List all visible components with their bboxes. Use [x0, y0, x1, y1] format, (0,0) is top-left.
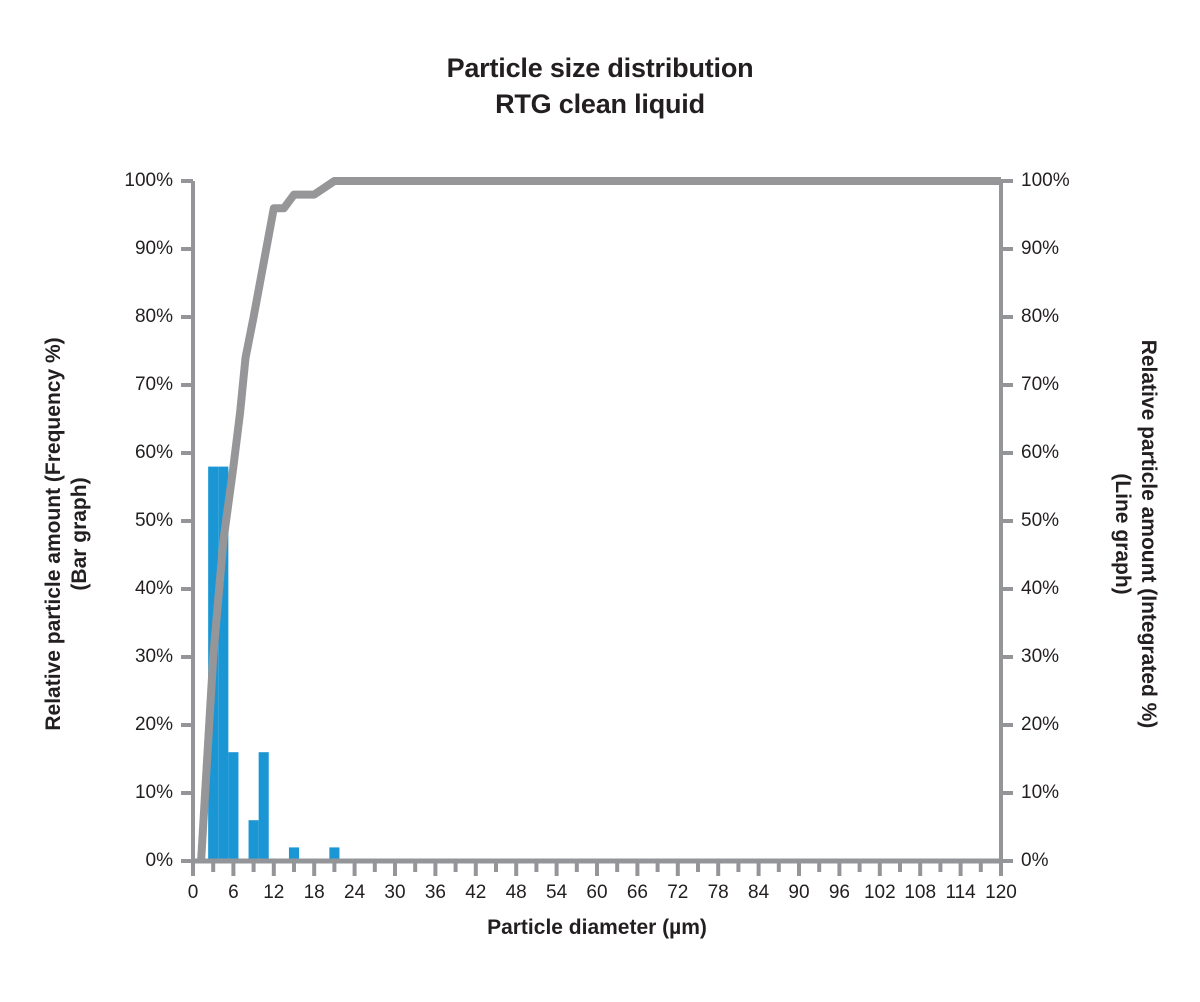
y-axis-left-tick-label: 100% — [63, 171, 173, 190]
y-axis-right-tick-label: 50% — [1021, 511, 1131, 530]
bar — [259, 752, 269, 861]
y-axis-right-title-line-2: (Line graph) — [1111, 473, 1134, 594]
y-axis-left-title-line-1: Relative particle amount (Frequency %) — [42, 337, 65, 730]
y-axis-left-title-line-2: (Bar graph) — [68, 477, 91, 590]
y-axis-left-tick-label: 60% — [63, 443, 173, 462]
x-axis-title: Particle diameter (µm) — [192, 915, 1002, 941]
y-axis-right-tick-label: 80% — [1021, 307, 1131, 326]
y-axis-right-tick-label: 40% — [1021, 579, 1131, 598]
y-axis-left-tick-label: 40% — [63, 579, 173, 598]
y-axis-left-tick-label: 90% — [63, 239, 173, 258]
chart-title: Particle size distribution RTG clean liq… — [0, 50, 1200, 122]
y-axis-right-tick-label: 90% — [1021, 239, 1131, 258]
y-axis-left-tick-label: 30% — [63, 647, 173, 666]
y-axis-right-tick-label: 70% — [1021, 375, 1131, 394]
chart-title-line-1: Particle size distribution — [0, 50, 1200, 86]
y-axis-right-title-line-1: Relative particle amount (Integrated %) — [1137, 340, 1160, 729]
cumulative-line — [201, 181, 1001, 861]
y-axis-right-tick-label: 0% — [1021, 851, 1131, 870]
y-axis-left-tick-label: 70% — [63, 375, 173, 394]
chart-title-line-2: RTG clean liquid — [0, 86, 1200, 122]
y-axis-left-tick-label: 0% — [63, 851, 173, 870]
y-axis-left-tick-label: 10% — [63, 783, 173, 802]
bar — [228, 752, 238, 861]
chart-figure: Particle size distribution RTG clean liq… — [0, 0, 1200, 1002]
y-axis-left-tick-label: 50% — [63, 511, 173, 530]
y-axis-left-tick-label: 20% — [63, 715, 173, 734]
y-axis-right-tick-label: 10% — [1021, 783, 1131, 802]
y-axis-right-tick-label: 60% — [1021, 443, 1131, 462]
y-axis-right-tick-label: 100% — [1021, 171, 1131, 190]
plot-area — [0, 0, 1200, 1002]
y-axis-right-tick-label: 20% — [1021, 715, 1131, 734]
x-axis-tick-label: 120 — [971, 883, 1031, 902]
axes — [181, 181, 1013, 876]
y-axis-left-tick-label: 80% — [63, 307, 173, 326]
bar — [249, 820, 259, 861]
y-axis-right-tick-label: 30% — [1021, 647, 1131, 666]
